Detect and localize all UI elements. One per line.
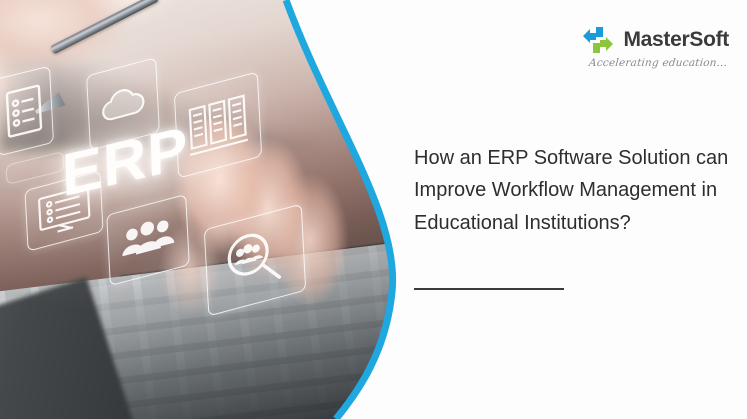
logo-row: MasterSoft [581,24,729,56]
blog-banner: ERP MasterSoft Accelerating education...… [0,0,747,419]
page-title: How an ERP Software Solution can Improve… [414,142,734,239]
brand-tagline: Accelerating education... [588,57,728,69]
pinwheel-arrows-logo-icon [581,24,615,56]
brand-logo[interactable]: MasterSoft Accelerating education... [581,24,729,69]
content-column: MasterSoft Accelerating education... How… [412,0,747,419]
title-divider [414,288,564,290]
hero-photo: ERP [0,0,400,419]
checklist-document-icon [0,67,53,155]
brand-name: MasterSoft [623,28,729,52]
holo-panel-document [0,66,54,157]
